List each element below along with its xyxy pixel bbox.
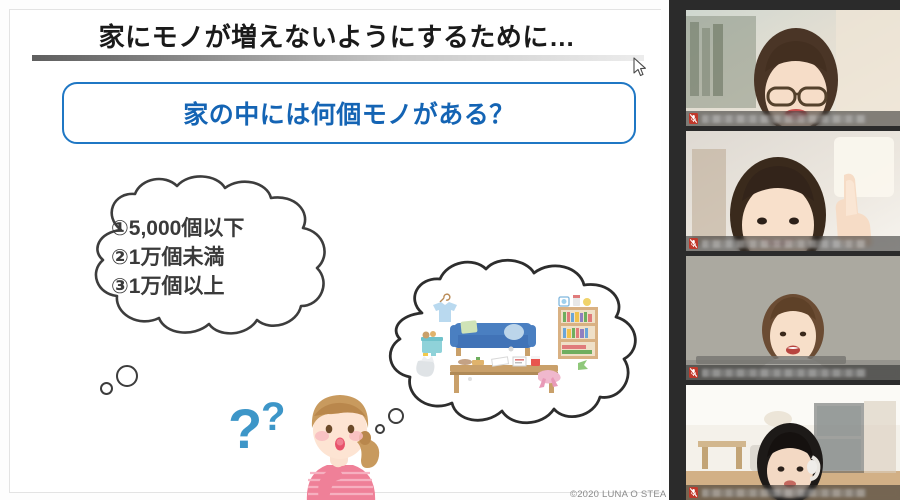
- mic-muted-icon: [689, 113, 698, 124]
- participant-name-2: [702, 240, 866, 248]
- participant-name-bar-3: [686, 365, 900, 380]
- thought-tail-dot-large: [116, 365, 138, 387]
- slide-title: 家にモノが増えないようにするために…: [32, 16, 642, 54]
- participant-name-bar-4: [686, 485, 900, 500]
- copyright-notice: ©2020 LUNA O STEA: [570, 489, 666, 500]
- cluttered-living-room-illustration: [410, 293, 625, 403]
- mouse-cursor-arrow-icon: [633, 57, 647, 77]
- participant-name-bar-1: [686, 111, 900, 126]
- video-feed-3: [686, 256, 900, 380]
- participant-name-1: [702, 115, 866, 123]
- option-2: ②1万個未満: [111, 244, 351, 272]
- shared-screen-area[interactable]: 家にモノが増えないようにするために… 家の中には何個モノがある？ ①5,000個…: [0, 0, 669, 500]
- video-tile-4[interactable]: [686, 385, 900, 500]
- participant-name-3: [702, 369, 866, 377]
- video-tile-2[interactable]: [686, 131, 900, 251]
- answer-options-list: ①5,000個以下 ②1万個未満 ③1万個以上: [111, 215, 351, 301]
- option-1: ①5,000個以下: [111, 215, 351, 243]
- participant-video-panel: [669, 0, 900, 500]
- svg-text:?: ?: [228, 397, 262, 460]
- video-tile-1[interactable]: [686, 10, 900, 126]
- thinking-girl-illustration: [285, 388, 395, 500]
- participant-name-bar-2: [686, 236, 900, 251]
- title-divider-rule: [32, 55, 644, 61]
- mic-muted-icon: [689, 487, 698, 498]
- video-feed-1: [686, 10, 900, 126]
- screen-share-meeting-view: 家にモノが増えないようにするために… 家の中には何個モノがある？ ①5,000個…: [0, 0, 900, 500]
- svg-text:?: ?: [261, 395, 285, 439]
- option-3: ③1万個以上: [111, 273, 351, 301]
- presentation-slide: 家にモノが増えないようにするために… 家の中には何個モノがある？ ①5,000個…: [9, 9, 661, 493]
- thought-tail-dot-small: [100, 382, 113, 395]
- video-feed-2: [686, 131, 900, 251]
- cluttered-room-thought-bubble: [370, 255, 669, 445]
- answer-options-thought-bubble: ①5,000個以下 ②1万個未満 ③1万個以上: [65, 170, 375, 370]
- question-text: 家の中には何個モノがある？: [183, 95, 515, 131]
- participant-name-4: [702, 489, 866, 497]
- mic-muted-icon: [689, 238, 698, 249]
- mic-muted-icon: [689, 367, 698, 378]
- video-feed-4: [686, 385, 900, 500]
- video-tile-3[interactable]: [686, 256, 900, 380]
- question-callout-box: 家の中には何個モノがある？: [62, 82, 636, 144]
